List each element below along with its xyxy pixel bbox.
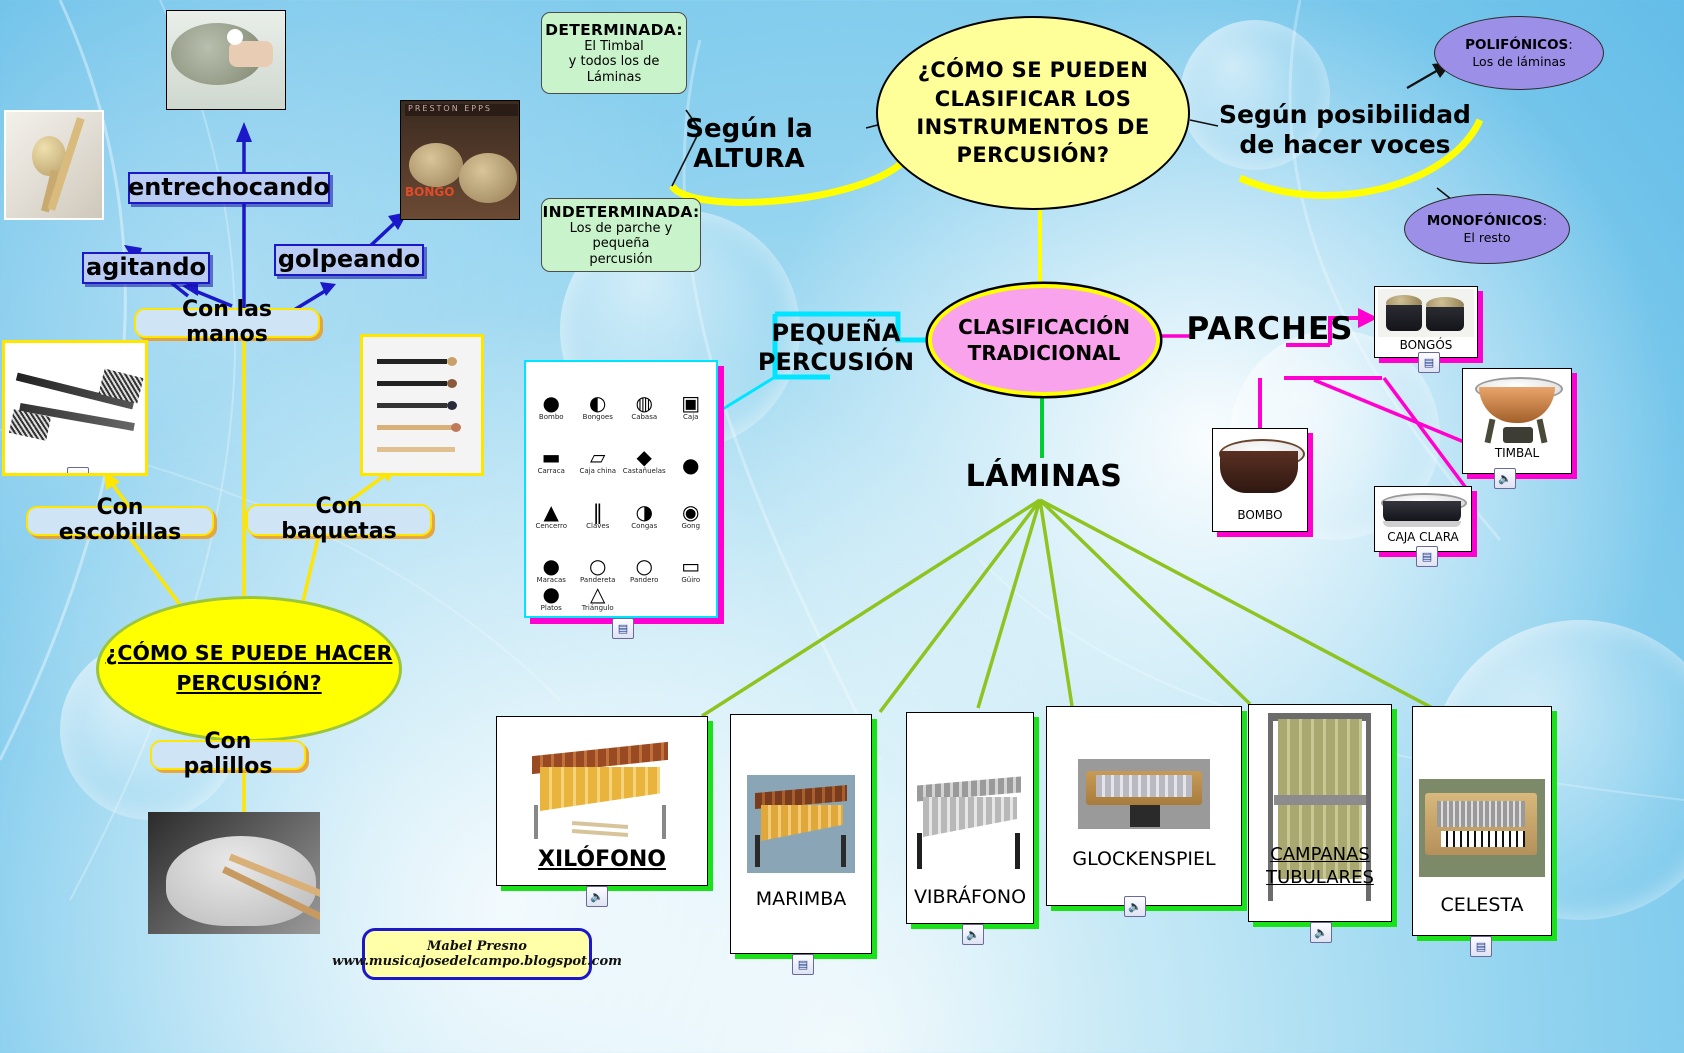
document-icon[interactable]: ▤	[67, 467, 89, 476]
polifonicos-sub: Los de láminas	[1472, 54, 1565, 69]
second-question-ellipse: ¿CÓMO SE PUEDE HACER PERCUSIÓN?	[96, 596, 402, 742]
card-marimba-caption: MARIMBA	[756, 889, 847, 911]
instrument-icon: ○	[636, 556, 653, 576]
photo-cymbals	[166, 10, 286, 110]
card-bombo: BOMBO	[1212, 428, 1308, 532]
pequena-percusion-item: ◉Gong	[668, 475, 715, 530]
branch-label-laminas: LÁMINAS	[960, 456, 1128, 496]
instrument-icon: ○	[589, 556, 606, 576]
card-celesta-caption: CELESTA	[1440, 895, 1523, 917]
pequena-percusion-item: ▬Carraca	[528, 421, 575, 476]
card-celesta: CELESTA	[1412, 706, 1552, 936]
photo-drumsticks	[148, 812, 320, 934]
pequena-percusion-item: ●Platos	[528, 584, 575, 612]
monofonicos-heading: MONOFÓNICOS:	[1427, 213, 1547, 229]
pequena-percusion-item: ◆Castañuelas	[621, 421, 668, 476]
pequena-percusion-item: ▭Güiro	[668, 530, 715, 585]
instrument-icon: ▬	[542, 447, 561, 467]
instrument-icon: ◍	[636, 393, 653, 413]
pequena-percusion-item: ●Maracas	[528, 530, 575, 585]
branch-label-altura: Según la ALTURA	[636, 128, 862, 160]
instrument-icon: ●	[543, 393, 560, 413]
pequena-percusion-item: △Triángulo	[575, 584, 622, 612]
photo-pequena-percusion: ●Bombo◐Bongoes◍Cabasa▣Caja▬Carraca▱Caja …	[524, 360, 718, 618]
instrument-icon: ◑	[636, 502, 653, 522]
branch-label-voces-text: Según posibilidad de hacer voces	[1205, 100, 1485, 160]
instrument-icon: ▣	[681, 393, 700, 413]
indeterminada-line2: percusión	[589, 252, 652, 267]
card-xilofono-caption: XILÓFONO	[538, 847, 666, 872]
card-campanas-tubulares-text: CAMPANAS TUBULARES	[1266, 844, 1374, 888]
monofonicos-sub: El resto	[1464, 230, 1511, 245]
polifonicos-ellipse: POLIFÓNICOS: Los de láminas	[1434, 16, 1604, 90]
main-question-text: ¿CÓMO SE PUEDEN CLASIFICAR LOS INSTRUMEN…	[878, 56, 1188, 169]
sound-icon[interactable]: 🔈	[1494, 468, 1516, 489]
pequena-percusion-item: ●Bombo	[528, 366, 575, 421]
card-bombo-caption: BOMBO	[1237, 509, 1282, 523]
photo-bongos-hands: PRESTON EPPS BONGO	[400, 100, 520, 220]
determinada-box: DETERMINADA: El Timbal y todos los de Lá…	[541, 12, 687, 94]
branch-label-pequena-percusion: PEQUEÑA PERCUSIÓN	[756, 318, 916, 378]
label-con-escobillas[interactable]: Con escobillas	[26, 506, 214, 536]
card-timbal-caption: TIMBAL	[1495, 447, 1539, 461]
card-timbal: TIMBAL	[1462, 368, 1572, 474]
card-campanas-tubulares: CAMPANAS TUBULARES	[1248, 704, 1392, 922]
document-icon[interactable]: ▤	[1470, 936, 1492, 957]
branch-label-parches: PARCHES	[1190, 310, 1350, 348]
sound-icon[interactable]: 🔈	[1310, 922, 1332, 943]
label-golpeando[interactable]: golpeando	[274, 244, 424, 276]
main-question-ellipse: ¿CÓMO SE PUEDEN CLASIFICAR LOS INSTRUMEN…	[876, 16, 1190, 210]
branch-label-pequena-text: PEQUEÑA PERCUSIÓN	[756, 319, 916, 378]
credit-author: Mabel Presno	[427, 939, 527, 954]
photo-maracas	[4, 110, 104, 220]
label-con-palillos[interactable]: Con palillos	[150, 740, 306, 770]
sound-icon[interactable]: 🔈	[1124, 896, 1146, 917]
sound-icon[interactable]: 🔈	[962, 924, 984, 945]
traditional-classification-ellipse: CLASIFICACIÓN TRADICIONAL	[928, 284, 1160, 396]
polifonicos-heading: POLIFÓNICOS:	[1465, 37, 1573, 53]
document-icon[interactable]: ▤	[792, 954, 814, 975]
pequena-percusion-item: ●	[668, 421, 715, 476]
label-entrechocando[interactable]: entrechocando	[128, 172, 330, 204]
photo-escobillas: ▤	[2, 340, 148, 476]
pequena-percusion-item: ◍Cabasa	[621, 366, 668, 421]
credit-site: www.musicajosedelcampo.blogspot.com	[332, 954, 622, 969]
photo-baquetas	[360, 334, 484, 476]
determinada-line2: y todos los de Láminas	[550, 54, 678, 85]
instrument-icon: ◆	[637, 447, 652, 467]
pequena-percusion-item: ◐Bongoes	[575, 366, 622, 421]
pequena-percusion-item: ○Pandereta	[575, 530, 622, 585]
pequena-percusion-grid: ●Bombo◐Bongoes◍Cabasa▣Caja▬Carraca▱Caja …	[526, 362, 716, 616]
monofonicos-ellipse: MONOFÓNICOS: El resto	[1404, 194, 1570, 264]
instrument-icon: △	[590, 584, 605, 604]
pequena-percusion-item: ◑Congas	[621, 475, 668, 530]
card-caja-clara-caption: CAJA CLARA	[1387, 531, 1459, 545]
label-agitando[interactable]: agitando	[82, 252, 210, 284]
card-xilofono: XILÓFONO	[496, 716, 708, 886]
instrument-icon: ●	[543, 584, 560, 604]
card-marimba: MARIMBA	[730, 714, 872, 954]
pequena-percusion-item: ‖Claves	[575, 475, 622, 530]
instrument-icon: ‖	[593, 502, 603, 522]
second-question-text: ¿CÓMO SE PUEDE HACER PERCUSIÓN?	[99, 639, 399, 698]
traditional-classification-text: CLASIFICACIÓN TRADICIONAL	[932, 314, 1156, 366]
pequena-percusion-item: ▲Cencerro	[528, 475, 575, 530]
branch-label-voces: Según posibilidad de hacer voces	[1205, 100, 1485, 160]
document-icon[interactable]: ▤	[1418, 352, 1440, 373]
card-bongos: BONGÓS	[1374, 286, 1478, 358]
instrument-icon: ●	[543, 556, 560, 576]
instrument-icon: ●	[682, 455, 699, 475]
instrument-icon: ▱	[590, 447, 605, 467]
instrument-icon: ◉	[682, 502, 699, 522]
label-con-baquetas[interactable]: Con baquetas	[246, 504, 432, 536]
card-vibrafono: VIBRÁFONO	[906, 712, 1034, 924]
indeterminada-line1: Los de parche y pequeña	[550, 221, 692, 252]
pequena-percusion-item: ▣Caja	[668, 366, 715, 421]
pequena-percusion-item: ▱Caja china	[575, 421, 622, 476]
determinada-line1: El Timbal	[584, 39, 644, 54]
card-glockenspiel-caption: GLOCKENSPIEL	[1072, 849, 1215, 871]
document-icon[interactable]: ▤	[612, 618, 634, 639]
credit-box: Mabel Presno www.musicajosedelcampo.blog…	[362, 928, 592, 980]
instrument-icon: ◐	[589, 393, 606, 413]
card-bongos-caption: BONGÓS	[1400, 339, 1453, 353]
document-icon[interactable]: ▤	[1416, 546, 1438, 567]
instrument-icon: ▭	[681, 556, 700, 576]
sound-icon[interactable]: 🔈	[586, 886, 608, 907]
card-campanas-tubulares-caption: CAMPANAS TUBULARES	[1249, 843, 1391, 890]
determinada-heading: DETERMINADA:	[545, 21, 683, 39]
indeterminada-heading: INDETERMINADA:	[543, 203, 700, 221]
card-vibrafono-caption: VIBRÁFONO	[914, 887, 1026, 909]
pequena-percusion-item: ○Pandero	[621, 530, 668, 585]
indeterminada-box: INDETERMINADA: Los de parche y pequeña p…	[541, 198, 701, 272]
card-caja-clara: CAJA CLARA	[1374, 486, 1472, 552]
label-con-las-manos[interactable]: Con las manos	[134, 308, 320, 338]
instrument-icon: ▲	[544, 502, 559, 522]
card-glockenspiel: GLOCKENSPIEL	[1046, 706, 1242, 906]
